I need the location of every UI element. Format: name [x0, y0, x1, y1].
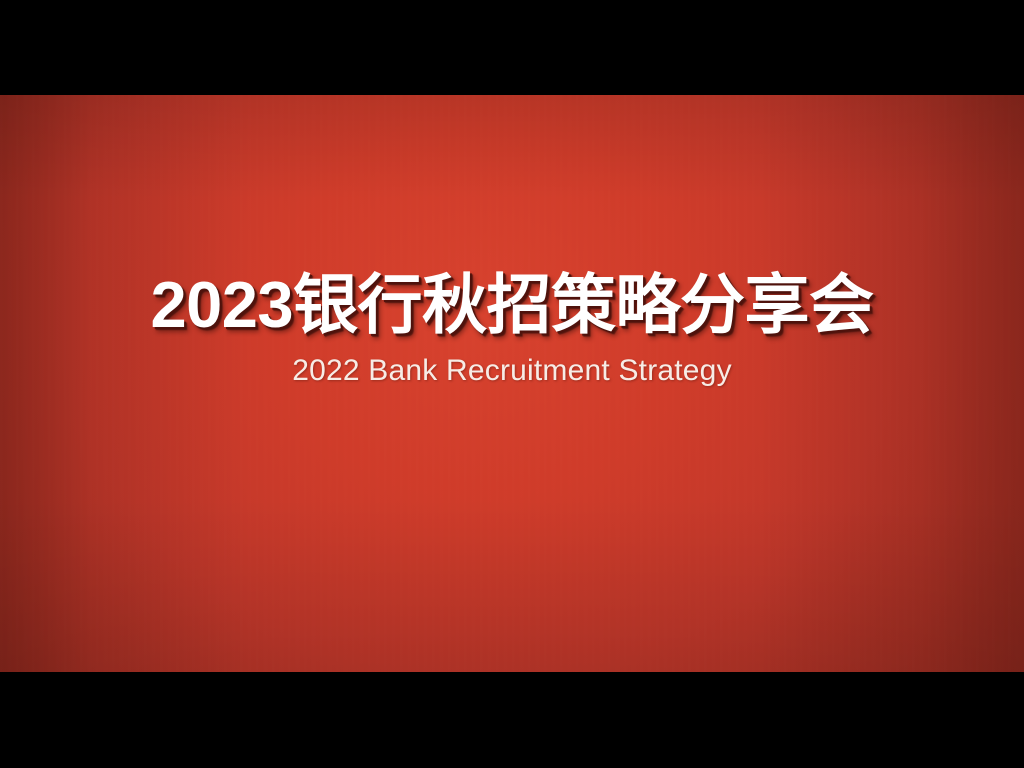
- slide-subtitle: 2022 Bank Recruitment Strategy: [0, 354, 1024, 387]
- presentation-slide: 2023银行秋招策略分享会 2022 Bank Recruitment Stra…: [0, 95, 1024, 672]
- letterbox-bar-top: [0, 0, 1024, 95]
- video-viewport: 2023银行秋招策略分享会 2022 Bank Recruitment Stra…: [0, 0, 1024, 768]
- slide-title: 2023银行秋招策略分享会: [0, 271, 1024, 340]
- slide-title-block: 2023银行秋招策略分享会 2022 Bank Recruitment Stra…: [0, 271, 1024, 387]
- letterbox-bar-bottom: [0, 672, 1024, 768]
